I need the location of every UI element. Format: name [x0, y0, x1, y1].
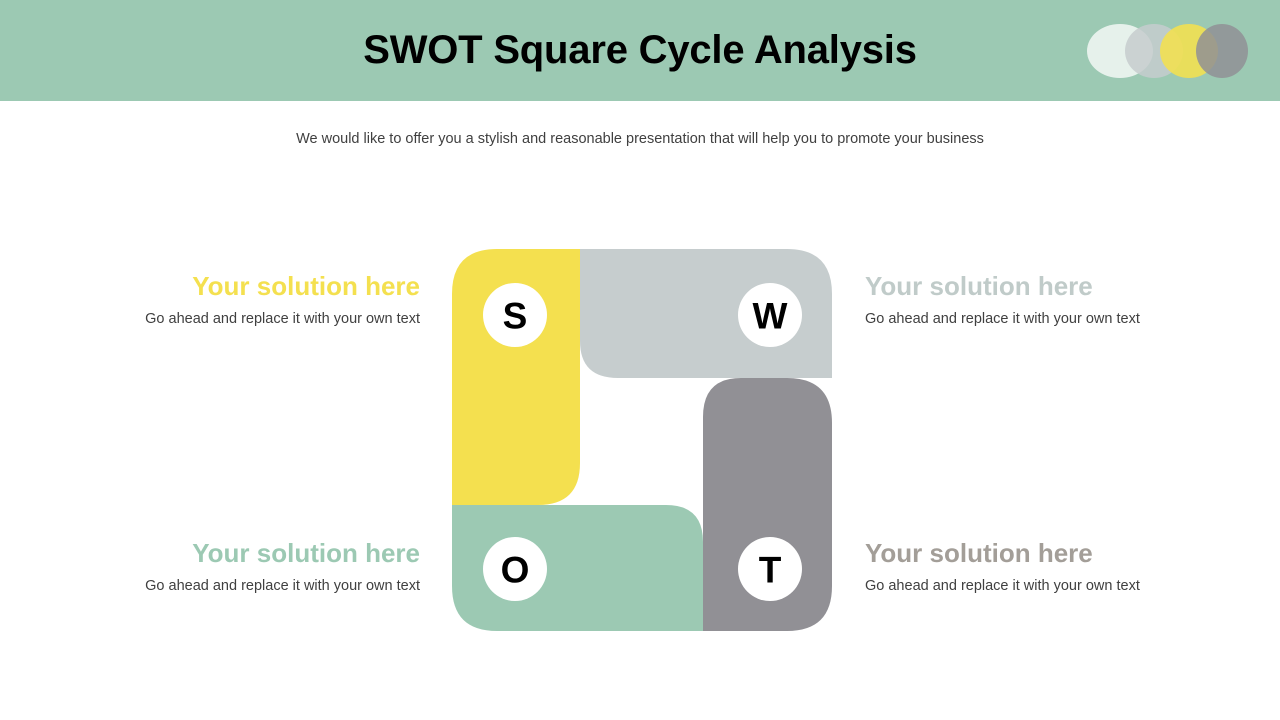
- opportunities-body: Go ahead and replace it with your own te…: [75, 578, 420, 594]
- badge-letter-threats: T: [759, 550, 782, 591]
- weaknesses-title: Your solution here: [865, 273, 1210, 300]
- deco-circle-4: [1196, 24, 1248, 78]
- threats-body: Go ahead and replace it with your own te…: [865, 578, 1210, 594]
- badge-letter-weaknesses: W: [753, 296, 788, 337]
- swot-pinwheel-diagram: S W O T: [452, 249, 832, 631]
- text-block-strengths: Your solution here Go ahead and replace …: [75, 273, 420, 327]
- weaknesses-body: Go ahead and replace it with your own te…: [865, 311, 1210, 327]
- strengths-title: Your solution here: [75, 273, 420, 300]
- text-block-opportunities: Your solution here Go ahead and replace …: [75, 540, 420, 594]
- slide-subtitle: We would like to offer you a stylish and…: [0, 131, 1280, 147]
- opportunities-title: Your solution here: [75, 540, 420, 567]
- text-block-weaknesses: Your solution here Go ahead and replace …: [865, 273, 1210, 327]
- badge-letter-strengths: S: [503, 296, 528, 337]
- threats-title: Your solution here: [865, 540, 1210, 567]
- badge-letter-opportunities: O: [501, 550, 530, 591]
- text-block-threats: Your solution here Go ahead and replace …: [865, 540, 1210, 594]
- strengths-body: Go ahead and replace it with your own te…: [75, 311, 420, 327]
- overlapping-circles-decoration: [1082, 22, 1252, 80]
